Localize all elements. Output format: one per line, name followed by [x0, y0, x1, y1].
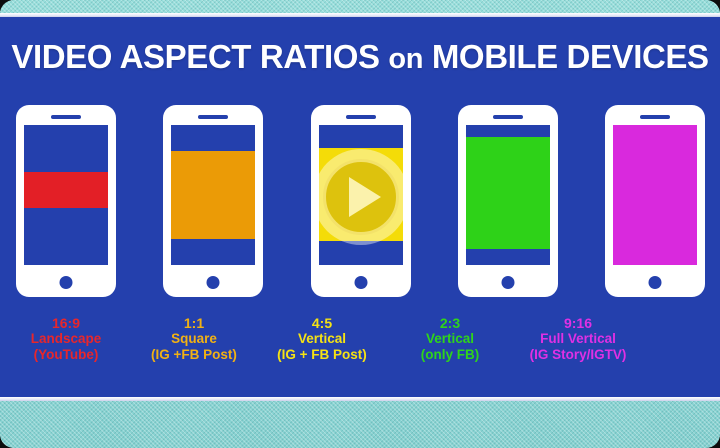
- play-triangle-icon: [349, 177, 381, 217]
- caption-platform-note: (IG Story/IGTV): [494, 347, 662, 363]
- phone-home-button: [502, 276, 515, 289]
- phone-speaker-slot: [198, 115, 228, 119]
- phone-screen: [171, 125, 255, 265]
- slide-stage: VIDEO ASPECT RATIOS on MOBILE DEVICES 16…: [0, 0, 720, 448]
- blue-content-card: VIDEO ASPECT RATIOS on MOBILE DEVICES 16…: [0, 17, 720, 397]
- play-button[interactable]: [313, 149, 409, 245]
- phone-screen: [466, 125, 550, 265]
- caption-orientation: Full Vertical: [494, 331, 662, 347]
- phone-home-button: [649, 276, 662, 289]
- caption-row: 16:9Landscape(YouTube)1:1Square(IG +FB P…: [0, 315, 720, 395]
- video-frame-band: [466, 137, 550, 249]
- phone-mockup-1-1: [163, 105, 263, 297]
- play-button-disc: [323, 159, 399, 235]
- video-frame-band: [24, 172, 108, 208]
- title-connector: on: [388, 43, 423, 75]
- phone-speaker-slot: [640, 115, 670, 119]
- phone-speaker-slot: [493, 115, 523, 119]
- phone-speaker-slot: [346, 115, 376, 119]
- device-caption-9-16: 9:16Full Vertical(IG Story/IGTV): [494, 315, 662, 363]
- video-frame-band: [613, 125, 697, 265]
- phone-home-button: [60, 276, 73, 289]
- device-row: [0, 105, 720, 305]
- phone-mockup-2-3: [458, 105, 558, 297]
- title-main: VIDEO ASPECT RATIOS: [11, 38, 379, 75]
- phone-mockup-9-16: [605, 105, 705, 297]
- title-tail: MOBILE DEVICES: [432, 38, 709, 75]
- phone-home-button: [355, 276, 368, 289]
- phone-mockup-16-9: [16, 105, 116, 297]
- phone-home-button: [207, 276, 220, 289]
- card-bottom-edge-line: [0, 397, 720, 401]
- phone-screen: [24, 125, 108, 265]
- video-frame-band: [171, 151, 255, 239]
- caption-ratio: 9:16: [494, 315, 662, 331]
- page-title: VIDEO ASPECT RATIOS on MOBILE DEVICES: [0, 38, 720, 76]
- phone-speaker-slot: [51, 115, 81, 119]
- phone-screen: [613, 125, 697, 265]
